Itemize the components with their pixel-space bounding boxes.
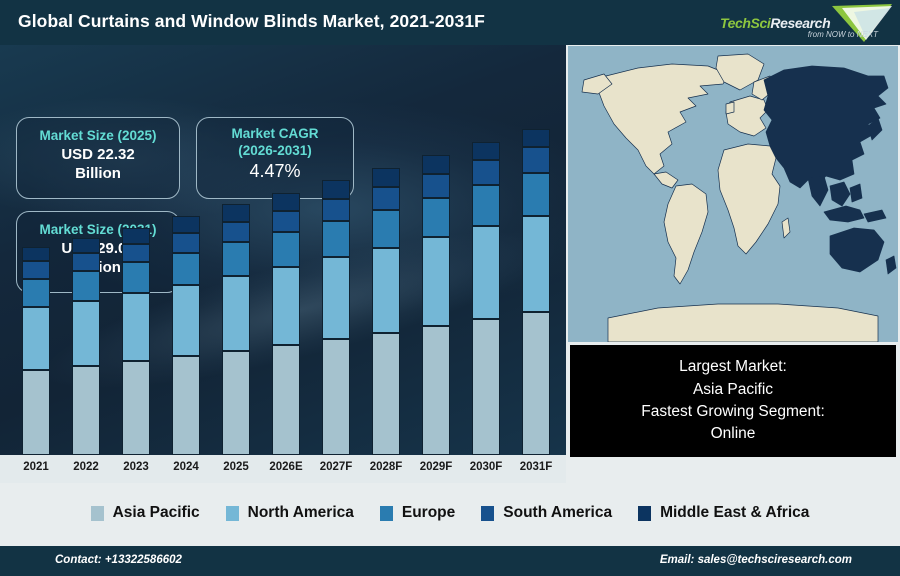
callout-box: Largest Market: Asia Pacific Fastest Gro…: [570, 345, 896, 457]
bar-segment: [22, 279, 50, 308]
north-america-shape: [598, 64, 728, 174]
x-axis-label-2026E: 2026E: [261, 461, 311, 473]
bar-segment: [422, 155, 450, 174]
x-axis-label-2031F: 2031F: [511, 461, 561, 473]
legend-swatch: [91, 506, 104, 521]
bar-segment: [522, 312, 550, 455]
bar-segment: [472, 226, 500, 319]
australia-shape: [830, 228, 884, 272]
legend-label: Asia Pacific: [113, 504, 200, 522]
x-axis-label-2022: 2022: [61, 461, 111, 473]
legend-item: South America: [481, 504, 612, 522]
legend-label: Europe: [402, 504, 455, 522]
infographic-root: Global Curtains and Window Blinds Market…: [0, 0, 900, 576]
x-axis: 202120222023202420252026E2027F2028F2029F…: [0, 455, 566, 483]
bar-segment: [222, 204, 250, 221]
legend-label: South America: [503, 504, 612, 522]
bar-segment: [72, 301, 100, 366]
bar-segment: [472, 142, 500, 160]
philippines-shape: [850, 184, 862, 202]
bar-segment: [322, 257, 350, 338]
bar-segment: [522, 173, 550, 216]
footer-email: Email: sales@techsciresearch.com: [660, 554, 852, 566]
logo-text-research: Research: [770, 15, 830, 31]
bar-segment: [272, 193, 300, 211]
legend-item: Middle East & Africa: [638, 504, 809, 522]
bar-segment: [422, 198, 450, 237]
bar-segment: [172, 216, 200, 233]
bar-segment: [72, 271, 100, 301]
x-axis-label-2028F: 2028F: [361, 461, 411, 473]
bar-segment: [72, 238, 100, 253]
bar-segment: [72, 366, 100, 455]
bar-segment: [522, 147, 550, 173]
header-bar: Global Curtains and Window Blinds Market…: [0, 0, 900, 45]
legend-label: North America: [248, 504, 354, 522]
bar-2030F: [472, 142, 500, 455]
footer-bar: Contact: +13322586602 Email: sales@techs…: [0, 546, 900, 576]
x-axis-label-2021: 2021: [11, 461, 61, 473]
x-axis-label-2029F: 2029F: [411, 461, 461, 473]
bar-segment: [322, 339, 350, 455]
bar-segment: [122, 244, 150, 263]
bar-segment: [372, 187, 400, 210]
bar-segment: [372, 168, 400, 187]
x-axis-label-2024: 2024: [161, 461, 211, 473]
southeast-asia-shape: [830, 182, 850, 206]
bar-segment: [372, 333, 400, 455]
page-title: Global Curtains and Window Blinds Market…: [18, 11, 485, 32]
bar-2023: [122, 228, 150, 455]
bar-segment: [22, 307, 50, 369]
stacked-bar-chart: [0, 45, 566, 455]
indonesia-shape: [824, 206, 864, 222]
bar-segment: [272, 232, 300, 267]
bar-segment: [272, 267, 300, 345]
bar-2025: [222, 204, 250, 455]
africa-shape: [718, 144, 780, 254]
logo-text-techsci: TechSci: [720, 15, 770, 31]
x-axis-label-2027F: 2027F: [311, 461, 361, 473]
bar-2027F: [322, 180, 350, 455]
bar-2024: [172, 216, 200, 455]
south-america-shape: [664, 184, 708, 284]
bar-segment: [422, 326, 450, 455]
x-axis-label-2023: 2023: [111, 461, 161, 473]
bar-2021: [22, 247, 50, 455]
bar-segment: [422, 237, 450, 326]
logo-tagline: from NOW to NEXT: [808, 30, 878, 39]
bar-segment: [22, 247, 50, 262]
legend-swatch: [226, 506, 239, 521]
bar-segment: [522, 216, 550, 313]
bar-segment: [122, 361, 150, 455]
callout-line-3: Fastest Growing Segment:: [641, 401, 825, 423]
bar-segment: [22, 261, 50, 278]
logo-wordmark: TechSciResearch: [720, 15, 830, 31]
bar-segment: [122, 293, 150, 361]
bar-segment: [472, 160, 500, 185]
madagascar-shape: [782, 218, 790, 238]
bar-segment: [322, 199, 350, 221]
bar-2031F: [522, 129, 550, 455]
bar-segment: [372, 248, 400, 333]
bar-2022: [72, 238, 100, 455]
bar-segment: [222, 242, 250, 276]
bar-segment: [222, 351, 250, 455]
bar-segment: [272, 211, 300, 232]
bar-segment: [122, 228, 150, 244]
antarctica-shape: [608, 304, 878, 342]
bar-segment: [472, 319, 500, 455]
callout-line-2: Asia Pacific: [693, 379, 773, 401]
chart-legend: Asia PacificNorth AmericaEuropeSouth Ame…: [0, 483, 900, 543]
india-shape: [808, 176, 828, 206]
bar-segment: [172, 285, 200, 356]
bar-segment: [222, 276, 250, 351]
new-zealand-shape: [886, 256, 896, 274]
bar-segment: [222, 222, 250, 242]
legend-label: Middle East & Africa: [660, 504, 809, 522]
new-guinea-shape: [864, 210, 886, 222]
legend-item: North America: [226, 504, 354, 522]
bar-segment: [372, 210, 400, 248]
techsci-logo: TechSciResearch from NOW to NEXT: [714, 2, 894, 44]
bar-segment: [172, 233, 200, 253]
europe-shape: [726, 96, 768, 136]
bar-segment: [122, 262, 150, 293]
footer-contact: Contact: +13322586602: [55, 554, 182, 566]
world-map: [568, 46, 898, 342]
bar-2028F: [372, 168, 400, 455]
world-map-svg: [568, 46, 898, 342]
x-axis-label-2030F: 2030F: [461, 461, 511, 473]
callout-line-4: Online: [711, 423, 756, 445]
bar-segment: [322, 221, 350, 258]
bar-2026E: [272, 193, 300, 455]
legend-swatch: [481, 506, 494, 521]
bar-segment: [522, 129, 550, 147]
legend-item: Europe: [380, 504, 455, 522]
bar-segment: [272, 345, 300, 455]
bar-segment: [72, 253, 100, 271]
bar-segment: [472, 185, 500, 226]
bar-segment: [422, 174, 450, 198]
bar-segment: [172, 356, 200, 455]
chart-panel: Market Size (2025) USD 22.32 Billion Mar…: [0, 45, 566, 455]
bar-segment: [22, 370, 50, 455]
map-land-group: [582, 54, 896, 342]
bar-segment: [322, 180, 350, 198]
uk-shape: [726, 102, 734, 114]
x-axis-label-2025: 2025: [211, 461, 261, 473]
bar-2029F: [422, 155, 450, 455]
legend-swatch: [638, 506, 651, 521]
legend-item: Asia Pacific: [91, 504, 200, 522]
callout-line-1: Largest Market:: [679, 356, 787, 378]
bar-segment: [172, 253, 200, 285]
central-america-shape: [654, 172, 678, 188]
legend-swatch: [380, 506, 393, 521]
